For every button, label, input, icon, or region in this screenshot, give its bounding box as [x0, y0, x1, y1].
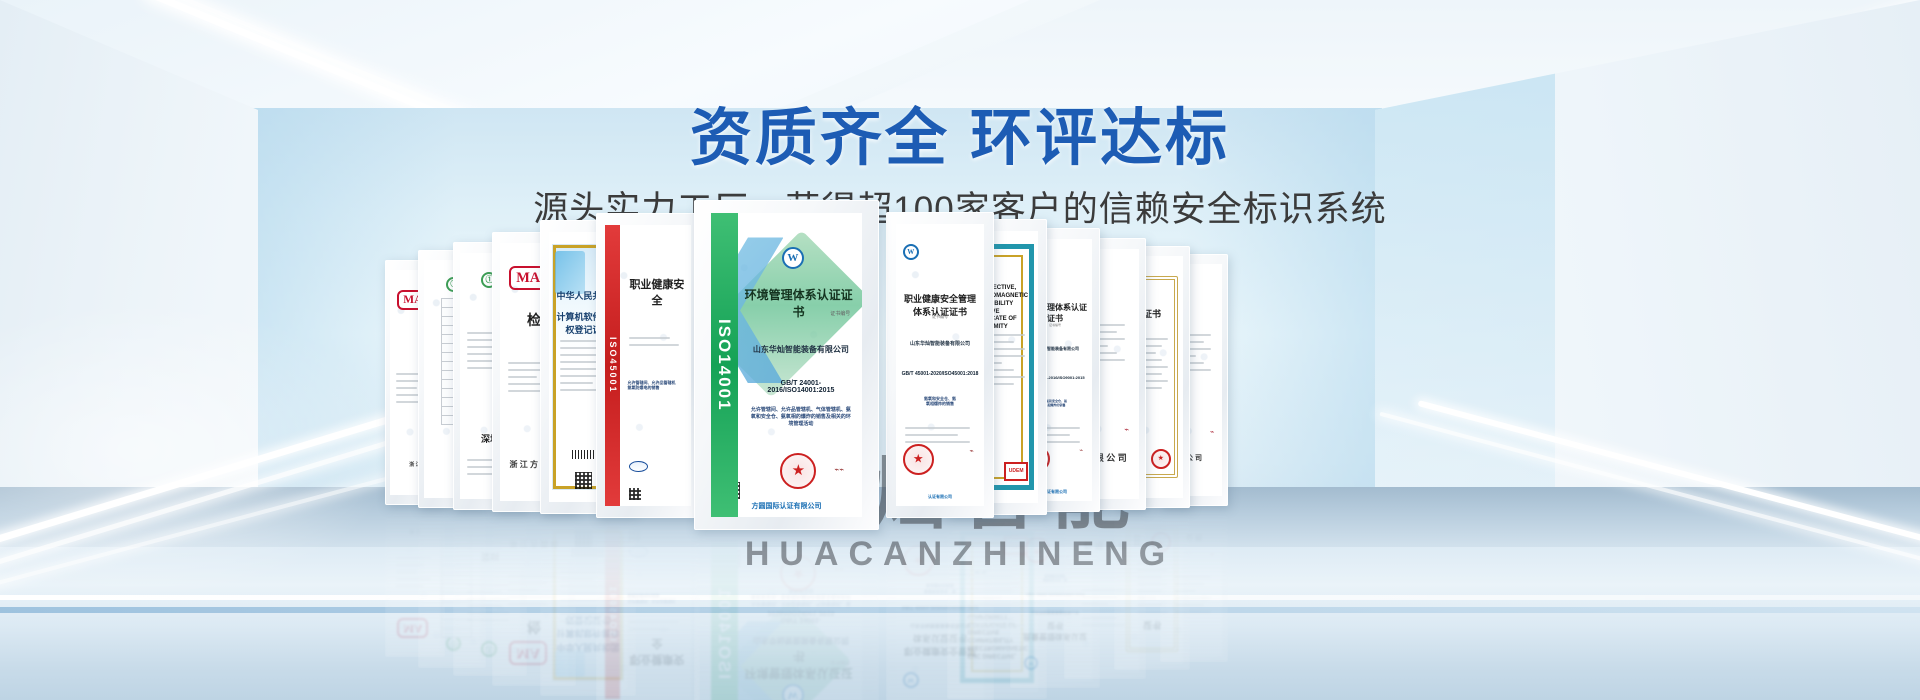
certificate-mat: W环境管理体系认证证书证书编号山东华灿智能装备有限公司GB/T 24001-20…: [711, 538, 863, 700]
certificate-paper: W职业健康安全管理体系认证证书证书编号山东华灿智能装备有限公司GB/T 4500…: [896, 224, 985, 506]
certificate-paper: W环境管理体系认证证书证书编号山东华灿智能装备有限公司GB/T 24001-20…: [711, 538, 863, 700]
software-cert-ornament: [555, 251, 585, 294]
certificate-paper: 职业健康安全 允许管辖间、允许品管辖机氨氧防爆电的销售ISO45001: [605, 225, 690, 506]
iso-standard-band: ISO14001: [711, 213, 738, 517]
certificate-reflection: W环境管理体系认证证书证书编号山东华灿智能装备有限公司GB/T 24001-20…: [694, 530, 879, 700]
certificate-scope: 允许管辖间、允许品管辖机氨氧防爆电的销售: [628, 593, 686, 604]
issuing-organization: 公 司: [1166, 532, 1222, 542]
signature: ⌁: [1210, 428, 1214, 436]
iso-standard-band: ISO45001: [605, 526, 620, 700]
official-seal: [903, 545, 934, 576]
barcode: [1135, 534, 1141, 546]
certificate-mat: 公 司⌁: [1166, 512, 1222, 656]
official-seal: [1024, 537, 1050, 563]
qr-code: [629, 488, 641, 500]
signature: ⌁: [1079, 447, 1083, 454]
official-seal: [1151, 449, 1171, 469]
certificate-standard: GB/T 24001-2016/ISO14001:2015: [749, 609, 854, 623]
official-seal: [903, 444, 934, 475]
certificate-mat: 职业健康安全 允许管辖间、允许品管辖机氨氧防爆电的销售ISO45001: [605, 225, 690, 506]
certificate-standard: GB/T 45001-2020/ISO45001:2018: [901, 371, 979, 377]
certificate-frame[interactable]: 职业健康安全 允许管辖间、允许品管辖机氨氧防爆电的销售ISO45001: [596, 213, 700, 518]
issuer-name: 认证有限公司: [896, 494, 985, 500]
certificate-number: 证书编号: [896, 314, 985, 320]
certified-organization: 山东华灿智能装备有限公司: [749, 635, 854, 646]
certificate-mat: W环境管理体系认证证书证书编号山东华灿智能装备有限公司GB/T 24001-20…: [711, 213, 863, 517]
signature: ⌁⌁: [974, 566, 987, 579]
certification-body-logo: W: [1024, 656, 1038, 670]
iso-standard-band: ISO45001: [605, 225, 620, 506]
certificate-mat: 职业健康安全 允许管辖间、允许品管辖机氨氧防爆电的销售ISO45001: [605, 526, 690, 700]
certificate-number: 证书编号: [830, 659, 850, 666]
signature: ⌁: [969, 447, 973, 455]
certificate-number: 证书编号: [830, 310, 850, 317]
qr-code: [575, 530, 592, 547]
certification-body-logo: W: [782, 684, 804, 700]
certification-body-logo: W: [782, 247, 804, 269]
iso-standard-band: ISO14001: [711, 538, 738, 700]
certificate-scope: 氨氧和安全仓、氨氧相爆炸的销售: [903, 396, 977, 407]
certificate-title: 职业健康安全: [628, 276, 687, 308]
certified-organization: 山东华灿智能装备有限公司: [749, 344, 854, 355]
certificate-mat: W职业健康安全管理体系认证证书证书编号山东华灿智能装备有限公司GB/T 4500…: [896, 224, 985, 506]
certificate-wall: MA 浙 江MA 浙 江①①① 深圳 ① 深圳 MA检 浙 江 方 圆 检MA检…: [0, 0, 1920, 700]
certificate-frame[interactable]: W环境管理体系认证证书证书编号山东华灿智能装备有限公司GB/T 24001-20…: [694, 200, 879, 530]
signature: ⌁: [1210, 550, 1214, 558]
certificate-paper: W环境管理体系认证证书证书编号山东华灿智能装备有限公司GB/T 24001-20…: [711, 213, 863, 517]
certificate-reflection: 公 司⌁: [1160, 506, 1228, 662]
certification-body-logo: W: [903, 672, 919, 688]
certificate-paper: 公 司⌁: [1166, 512, 1222, 656]
certificate-title: 职业健康安全: [628, 636, 687, 668]
certification-body-logo: W: [903, 244, 919, 260]
certified-organization: 山东华灿智能装备有限公司: [901, 340, 979, 347]
signature: ⌁⌁: [835, 465, 845, 474]
certificate-fields: [629, 337, 684, 351]
qr-code: [575, 472, 592, 489]
certificate-reflection: 职业健康安全 允许管辖间、允许品管辖机氨氧防爆电的销售ISO45001: [596, 518, 700, 700]
signature: ⌁: [1124, 425, 1129, 434]
certificate-scope: 允许管辖间、允许品管辖机氨氧防爆电的销售: [628, 380, 686, 391]
certificate-fields: [1175, 571, 1214, 613]
certificate-paper: 职业健康安全 允许管辖间、允许品管辖机氨氧防爆电的销售ISO45001: [605, 526, 690, 700]
certificate-standard: GB/T 24001-2016/ISO14001:2015: [749, 380, 854, 394]
hero-banner: 资质齐全 环评达标 源头实力工厂、获得超100家客户的信赖安全标识系统 MA 浙…: [0, 0, 1920, 700]
signature: ⌁⌁: [835, 565, 845, 574]
udem-logo: UDEM: [1004, 462, 1028, 481]
qr-code: [629, 529, 641, 541]
certificate-frame[interactable]: W职业健康安全管理体系认证证书证书编号山东华灿智能装备有限公司GB/T 4500…: [886, 212, 994, 518]
software-cert-ornament: [555, 650, 585, 677]
certificate-scope: 允许管辖间、允许品管辖机、气体管辖机、氨氧和安全仓、氨氧相的爆炸的销售及相关的环…: [749, 407, 854, 427]
certificate-fields: [629, 616, 684, 630]
